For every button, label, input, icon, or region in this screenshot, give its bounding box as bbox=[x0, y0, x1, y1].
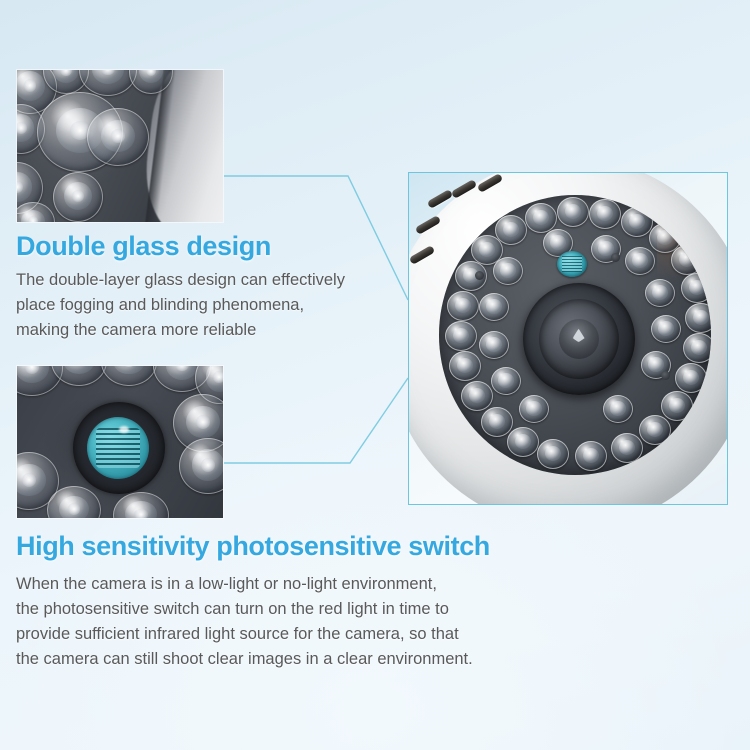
infrared-led-icon bbox=[493, 257, 523, 285]
infrared-led-icon bbox=[651, 315, 681, 343]
infrared-led-icon bbox=[645, 279, 675, 307]
sensor-dot-icon bbox=[611, 253, 620, 262]
infrared-led-icon bbox=[519, 395, 549, 423]
infrared-led-icon bbox=[625, 247, 655, 275]
infrared-led-icon bbox=[589, 199, 621, 229]
sensor-socket bbox=[73, 402, 165, 494]
sensor-dot-icon bbox=[661, 371, 670, 380]
infrared-led-icon bbox=[621, 207, 653, 237]
infrared-led-icon bbox=[507, 427, 539, 457]
infographic-page: Double glass design The double-layer gla… bbox=[0, 0, 750, 750]
feature-body-photosensitive-switch: When the camera is in a low-light or no-… bbox=[16, 572, 473, 672]
body-line: provide sufficient infrared light source… bbox=[16, 622, 473, 647]
infrared-led-icon bbox=[479, 331, 509, 359]
sensor-dot-icon bbox=[475, 271, 484, 280]
photosensitive-switch-thumbnail bbox=[17, 366, 223, 518]
connector-line-bottom bbox=[224, 378, 408, 463]
camera-lens bbox=[523, 283, 635, 395]
infrared-led-icon bbox=[671, 245, 703, 275]
body-line: The double-layer glass design can effect… bbox=[16, 268, 345, 293]
infrared-led-icon bbox=[557, 197, 589, 227]
infrared-led-icon bbox=[683, 333, 711, 363]
feature-headline-double-glass: Double glass design bbox=[16, 231, 271, 262]
infrared-led-icon bbox=[681, 273, 711, 303]
infrared-led-icon bbox=[603, 395, 633, 423]
infrared-led-icon bbox=[525, 203, 557, 233]
feature-body-double-glass: The double-layer glass design can effect… bbox=[16, 268, 345, 343]
infrared-led-icon bbox=[445, 321, 477, 351]
infrared-led-icon bbox=[447, 291, 479, 321]
infrared-led-icon bbox=[661, 391, 693, 421]
infrared-led-icon bbox=[461, 381, 493, 411]
infrared-led-icon bbox=[611, 433, 643, 463]
infrared-led-icon bbox=[481, 407, 513, 437]
infrared-led-icon bbox=[639, 415, 671, 445]
infrared-led-icon bbox=[479, 293, 509, 321]
body-line: the camera can still shoot clear images … bbox=[16, 647, 473, 672]
feature-headline-photosensitive-switch: High sensitivity photosensitive switch bbox=[16, 531, 490, 562]
led-lens-icon bbox=[53, 172, 103, 222]
photosensitive-resistor-icon bbox=[87, 417, 149, 479]
infrared-led-icon bbox=[685, 303, 711, 333]
infrared-led-icon bbox=[537, 439, 569, 469]
infrared-led-icon bbox=[449, 351, 481, 381]
camera-faceplate bbox=[439, 195, 711, 475]
infrared-led-icon bbox=[675, 363, 707, 393]
body-line: making the camera more reliable bbox=[16, 318, 345, 343]
lens-barrel bbox=[539, 299, 619, 379]
body-line: the photosensitive switch can turn on th… bbox=[16, 597, 473, 622]
photosensitive-sensor-icon bbox=[557, 251, 587, 277]
lens-glass bbox=[559, 319, 599, 359]
body-line: place fogging and blinding phenomena, bbox=[16, 293, 345, 318]
camera-front-photo bbox=[408, 172, 728, 505]
body-line: When the camera is in a low-light or no-… bbox=[16, 572, 473, 597]
infrared-led-icon bbox=[491, 367, 521, 395]
led-lens-icon bbox=[87, 108, 149, 166]
infrared-led-icon bbox=[575, 441, 607, 471]
double-glass-thumbnail bbox=[17, 70, 223, 222]
